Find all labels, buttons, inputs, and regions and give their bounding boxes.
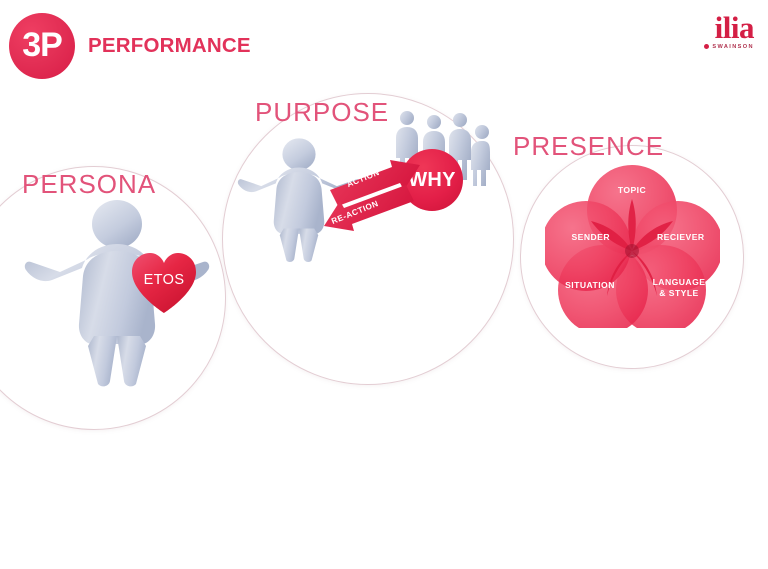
etos-heart: ETOS xyxy=(128,251,200,317)
brand-subtitle: SWAINSON xyxy=(712,44,754,50)
section-label-presence: PRESENCE xyxy=(513,131,664,162)
petal-label-topic: TOPIC xyxy=(602,185,662,196)
brand-subtitle-row: SWAINSON xyxy=(704,44,754,50)
page-title: PERFORMANCE xyxy=(88,34,251,58)
etos-label: ETOS xyxy=(128,272,200,288)
slide-canvas: 3P PERFORMANCE ilia SWAINSON PERSONA xyxy=(0,0,768,569)
brand-dot-icon xyxy=(704,44,709,49)
action-reaction-arrows: ACTION RE-ACTION xyxy=(320,160,424,240)
section-label-purpose: PURPOSE xyxy=(255,97,389,128)
brand-name: ilia xyxy=(704,14,754,42)
logo-badge-3p: 3P xyxy=(9,13,75,79)
petal-label-sender: SENDER xyxy=(550,232,610,243)
brand-logo: ilia SWAINSON xyxy=(704,14,754,50)
badge-text: 3P xyxy=(22,28,62,62)
petal-label-language: LANGUAGE & STYLE xyxy=(643,277,715,298)
petal-label-reciever: RECIEVER xyxy=(657,232,719,243)
petal-label-language-line2: & STYLE xyxy=(659,288,698,298)
petal-label-situation: SITUATION xyxy=(556,280,624,291)
presence-flower: TOPIC RECIEVER SITUATION SENDER LANGUAGE… xyxy=(545,163,720,328)
petal-label-language-line1: LANGUAGE xyxy=(653,277,706,287)
